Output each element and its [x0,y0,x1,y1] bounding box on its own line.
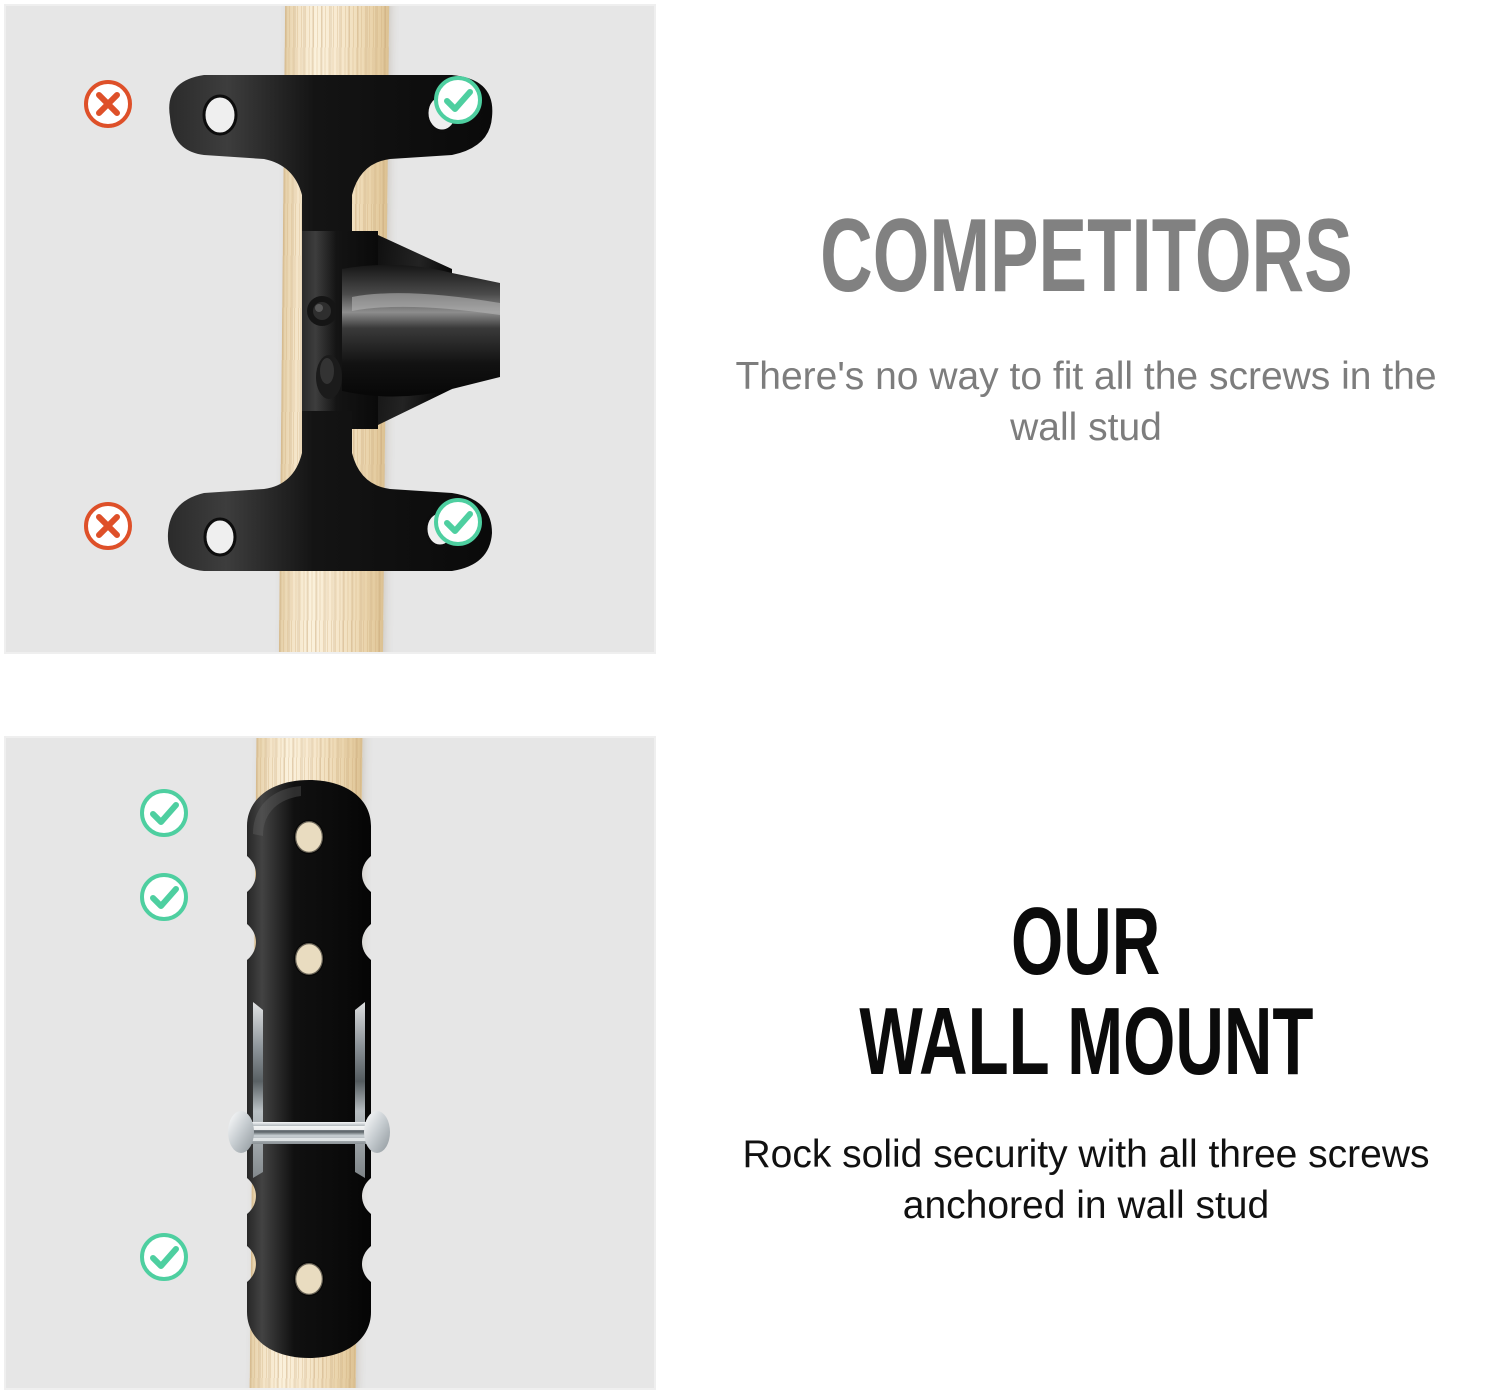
competitor-image-panel [4,4,656,654]
check-icon [432,74,484,126]
check-icon [138,1231,190,1283]
our-mount-text-block: OUR WALL MOUNT Rock solid security with … [680,736,1492,1390]
our-wall-mount-illustration [219,774,399,1364]
competitors-description: There's no way to fit all the screws in … [706,352,1466,453]
competitors-heading: COMPETITORS [820,204,1353,308]
check-icon [138,787,190,839]
our-mount-image-panel [4,736,656,1390]
competitors-text-block: COMPETITORS There's no way to fit all th… [680,4,1492,654]
cross-icon [82,500,134,552]
our-description: Rock solid security with all three screw… [706,1130,1466,1231]
check-icon [138,871,190,923]
cross-icon [82,78,134,130]
check-icon [432,496,484,548]
our-heading-line-1: OUR [1011,894,1160,990]
our-heading-line-2: WALL MOUNT [859,994,1313,1090]
competitor-bracket-illustration [152,59,512,569]
